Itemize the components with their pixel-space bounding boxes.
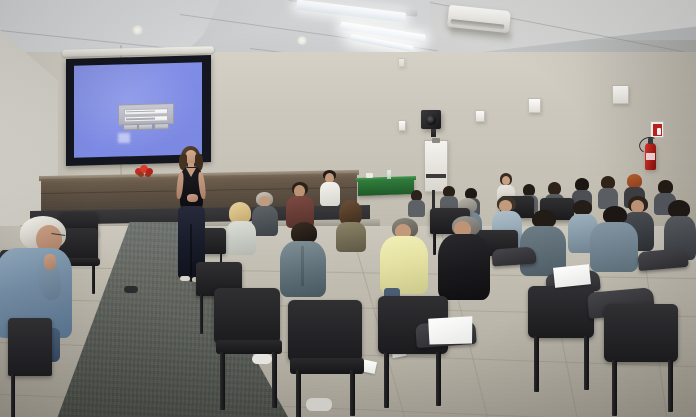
attendee-hair <box>658 180 673 194</box>
sign-pictogram <box>657 128 661 135</box>
attendee-shirt <box>590 222 638 272</box>
attendee-blonde-light-top <box>226 202 256 252</box>
flower-arrangement <box>134 164 156 178</box>
attendee-hand <box>44 254 56 270</box>
attendee-hair <box>627 174 642 188</box>
attendee-gray-teal-shirt <box>280 222 326 308</box>
speaker-cone <box>426 115 436 125</box>
attendee-shirt <box>408 200 425 217</box>
shoe <box>306 398 332 411</box>
sign-field <box>653 124 662 136</box>
table-papers <box>366 173 373 178</box>
projector-light-spill <box>118 133 130 143</box>
extinguisher-label <box>646 153 655 160</box>
presenter-shoe <box>180 276 190 281</box>
wall-speaker <box>421 110 441 129</box>
attendee-shirt <box>438 234 490 300</box>
flip-chart-tray <box>426 174 446 178</box>
flip-chart-clip <box>432 138 440 143</box>
wall-outlet-box <box>475 110 485 122</box>
projected-button-row <box>121 123 171 130</box>
wall-outlet-box <box>398 58 405 67</box>
projected-button <box>138 124 153 130</box>
presenter-trouser-seam <box>190 224 192 276</box>
papers-on-tablet-arm <box>426 313 475 348</box>
attendee-back-row <box>408 190 425 215</box>
attendee-back-row <box>598 176 618 207</box>
chair-tablet-arm <box>491 246 536 266</box>
green-presenter-table <box>358 179 414 196</box>
projected-input-field <box>124 108 168 115</box>
attendee-head <box>502 176 510 185</box>
papers-on-tablet-arm <box>553 264 591 288</box>
projected-button <box>123 124 138 130</box>
shoe <box>124 286 138 293</box>
water-bottle <box>387 170 391 179</box>
fire-extinguisher <box>645 143 656 170</box>
lecture-hall-photo <box>0 0 696 417</box>
wall-outlet-box <box>528 98 541 113</box>
attendee-shirt <box>226 221 256 255</box>
fire-extinguisher-sign <box>650 121 664 138</box>
wall-outlet-box <box>612 85 629 104</box>
ceiling-downlight <box>131 25 144 35</box>
ceiling-downlight <box>296 36 308 45</box>
attendee-long-hair <box>336 200 366 248</box>
flip-chart-easel <box>424 140 448 192</box>
projection-screen-surface <box>74 62 202 158</box>
attendee-shirt <box>336 222 366 252</box>
shoe <box>252 354 272 364</box>
projected-input-field <box>124 115 168 122</box>
projected-dialog-box <box>118 103 174 126</box>
attendee-dark-red-shirt <box>286 182 314 226</box>
projected-button <box>154 123 169 129</box>
extinguisher-valve <box>648 138 653 144</box>
shirt-fold <box>301 246 304 286</box>
attendee-shirt <box>380 236 428 294</box>
presenter-hands <box>187 194 198 202</box>
speaker-bracket <box>431 128 436 137</box>
wall-outlet-box <box>398 120 406 131</box>
attendee-seated-mid <box>590 206 638 284</box>
